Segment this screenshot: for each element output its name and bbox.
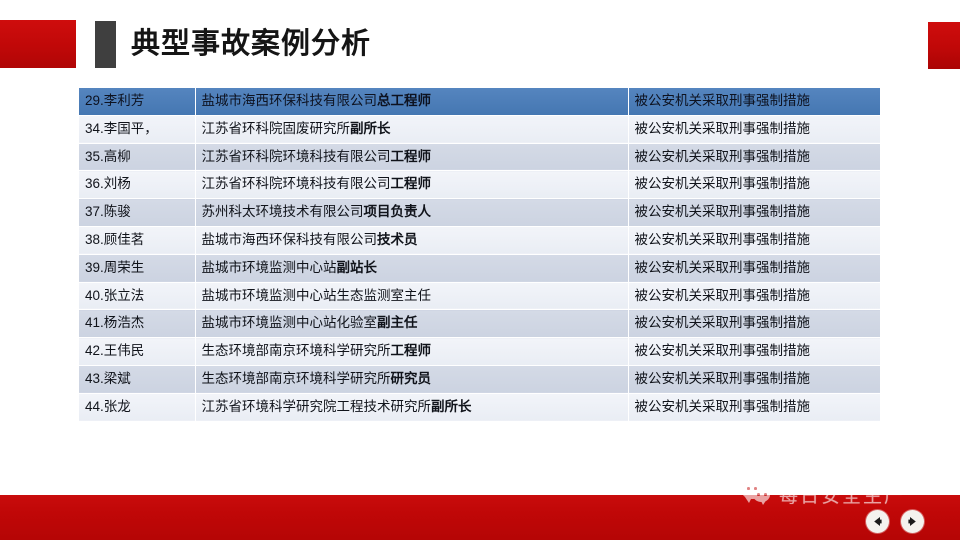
organization-text: 江苏省环科院环境科技有限公司 xyxy=(202,176,391,191)
role-text: 工程师 xyxy=(391,149,432,164)
cell-organization-role: 江苏省环科院环境科技有限公司工程师 xyxy=(195,171,628,199)
cell-organization-role: 盐城市环境监测中心站化验室副主任 xyxy=(195,310,628,338)
role-text: 总工程师 xyxy=(377,93,431,108)
organization-text: 盐城市海西环保科技有限公司 xyxy=(202,93,378,108)
cell-organization-role: 江苏省环科院固废研究所副所长 xyxy=(195,115,628,143)
header-red-block-left xyxy=(0,20,76,68)
cell-measure: 被公安机关采取刑事强制措施 xyxy=(628,310,880,338)
cell-measure: 被公安机关采取刑事强制措施 xyxy=(628,282,880,310)
organization-text: 苏州科太环境技术有限公司 xyxy=(202,204,364,219)
role-text: 项目负责人 xyxy=(364,204,432,219)
role-text: 副主任 xyxy=(377,315,418,330)
role-text: 副所长 xyxy=(350,121,391,136)
cell-organization-role: 盐城市海西环保科技有限公司技术员 xyxy=(195,226,628,254)
organization-text: 生态环境部南京环境科学研究所 xyxy=(202,343,391,358)
cell-measure: 被公安机关采取刑事强制措施 xyxy=(628,171,880,199)
role-text: 研究员 xyxy=(391,371,432,386)
cell-organization-role: 盐城市海西环保科技有限公司总工程师 xyxy=(195,88,628,115)
cell-person-name: 39.周荣生 xyxy=(79,254,195,282)
cell-organization-role: 苏州科太环境技术有限公司项目负责人 xyxy=(195,199,628,227)
cell-person-name: 34.李国平， xyxy=(79,115,195,143)
role-text: 工程师 xyxy=(391,343,432,358)
cell-person-name: 41.杨浩杰 xyxy=(79,310,195,338)
footer-red-band xyxy=(0,495,960,540)
organization-text: 江苏省环境科学研究院工程技术研究所 xyxy=(202,399,432,414)
page-title: 典型事故案例分析 xyxy=(131,20,371,68)
table-row[interactable]: 29.李利芳盐城市海西环保科技有限公司总工程师被公安机关采取刑事强制措施 xyxy=(79,88,880,115)
case-table: 29.李利芳盐城市海西环保科技有限公司总工程师被公安机关采取刑事强制措施34.李… xyxy=(79,88,880,421)
cell-measure: 被公安机关采取刑事强制措施 xyxy=(628,199,880,227)
table-row[interactable]: 40.张立法盐城市环境监测中心站生态监测室主任被公安机关采取刑事强制措施 xyxy=(79,282,880,310)
role-text: 工程师 xyxy=(391,176,432,191)
table-row[interactable]: 38.顾佳茗盐城市海西环保科技有限公司技术员被公安机关采取刑事强制措施 xyxy=(79,226,880,254)
cell-person-name: 36.刘杨 xyxy=(79,171,195,199)
header-gray-accent-bar xyxy=(95,21,116,68)
organization-text: 江苏省环科院环境科技有限公司 xyxy=(202,149,391,164)
table-row[interactable]: 36.刘杨江苏省环科院环境科技有限公司工程师被公安机关采取刑事强制措施 xyxy=(79,171,880,199)
cell-person-name: 43.梁斌 xyxy=(79,365,195,393)
cell-person-name: 44.张龙 xyxy=(79,393,195,420)
cell-person-name: 37.陈骏 xyxy=(79,199,195,227)
cell-measure: 被公安机关采取刑事强制措施 xyxy=(628,115,880,143)
table-row[interactable]: 43.梁斌生态环境部南京环境科学研究所研究员被公安机关采取刑事强制措施 xyxy=(79,365,880,393)
table-row[interactable]: 35.高柳江苏省环科院环境科技有限公司工程师被公安机关采取刑事强制措施 xyxy=(79,143,880,171)
organization-text: 盐城市环境监测中心站 xyxy=(202,260,337,275)
organization-text: 江苏省环科院固废研究所 xyxy=(202,121,351,136)
organization-text: 盐城市海西环保科技有限公司 xyxy=(202,232,378,247)
cell-measure: 被公安机关采取刑事强制措施 xyxy=(628,143,880,171)
cell-person-name: 35.高柳 xyxy=(79,143,195,171)
cell-measure: 被公安机关采取刑事强制措施 xyxy=(628,393,880,420)
role-text: 副所长 xyxy=(431,399,472,414)
cell-organization-role: 生态环境部南京环境科学研究所工程师 xyxy=(195,338,628,366)
slide-navigation xyxy=(866,510,924,533)
table-row[interactable]: 42.王伟民生态环境部南京环境科学研究所工程师被公安机关采取刑事强制措施 xyxy=(79,338,880,366)
slide-canvas: 典型事故案例分析 29.李利芳盐城市海西环保科技有限公司总工程师被公安机关采取刑… xyxy=(0,0,960,540)
cell-person-name: 42.王伟民 xyxy=(79,338,195,366)
cell-organization-role: 江苏省环科院环境科技有限公司工程师 xyxy=(195,143,628,171)
cell-measure: 被公安机关采取刑事强制措施 xyxy=(628,226,880,254)
cell-person-name: 38.顾佳茗 xyxy=(79,226,195,254)
header-red-block-right xyxy=(928,22,960,69)
cell-organization-role: 江苏省环境科学研究院工程技术研究所副所长 xyxy=(195,393,628,420)
table-row[interactable]: 37.陈骏苏州科太环境技术有限公司项目负责人被公安机关采取刑事强制措施 xyxy=(79,199,880,227)
cell-person-name: 29.李利芳 xyxy=(79,88,195,115)
cell-measure: 被公安机关采取刑事强制措施 xyxy=(628,88,880,115)
organization-text: 盐城市环境监测中心站化验室 xyxy=(202,315,378,330)
cell-measure: 被公安机关采取刑事强制措施 xyxy=(628,338,880,366)
organization-text: 生态环境部南京环境科学研究所 xyxy=(202,371,391,386)
cell-measure: 被公安机关采取刑事强制措施 xyxy=(628,365,880,393)
cell-organization-role: 盐城市环境监测中心站副站长 xyxy=(195,254,628,282)
cell-organization-role: 盐城市环境监测中心站生态监测室主任 xyxy=(195,282,628,310)
table-row[interactable]: 44.张龙江苏省环境科学研究院工程技术研究所副所长被公安机关采取刑事强制措施 xyxy=(79,393,880,420)
prev-slide-button[interactable] xyxy=(866,510,889,533)
role-text: 技术员 xyxy=(377,232,418,247)
table-row[interactable]: 41.杨浩杰盐城市环境监测中心站化验室副主任被公安机关采取刑事强制措施 xyxy=(79,310,880,338)
arrow-left-icon xyxy=(871,515,884,528)
cell-measure: 被公安机关采取刑事强制措施 xyxy=(628,254,880,282)
organization-text: 盐城市环境监测中心站生态监测室主任 xyxy=(202,288,432,303)
arrow-right-icon xyxy=(906,515,919,528)
cell-organization-role: 生态环境部南京环境科学研究所研究员 xyxy=(195,365,628,393)
table-row[interactable]: 34.李国平，江苏省环科院固废研究所副所长被公安机关采取刑事强制措施 xyxy=(79,115,880,143)
cell-person-name: 40.张立法 xyxy=(79,282,195,310)
next-slide-button[interactable] xyxy=(901,510,924,533)
table-row[interactable]: 39.周荣生盐城市环境监测中心站副站长被公安机关采取刑事强制措施 xyxy=(79,254,880,282)
role-text: 副站长 xyxy=(337,260,378,275)
case-table-container: 29.李利芳盐城市海西环保科技有限公司总工程师被公安机关采取刑事强制措施34.李… xyxy=(79,88,880,437)
case-table-body: 29.李利芳盐城市海西环保科技有限公司总工程师被公安机关采取刑事强制措施34.李… xyxy=(79,88,880,421)
